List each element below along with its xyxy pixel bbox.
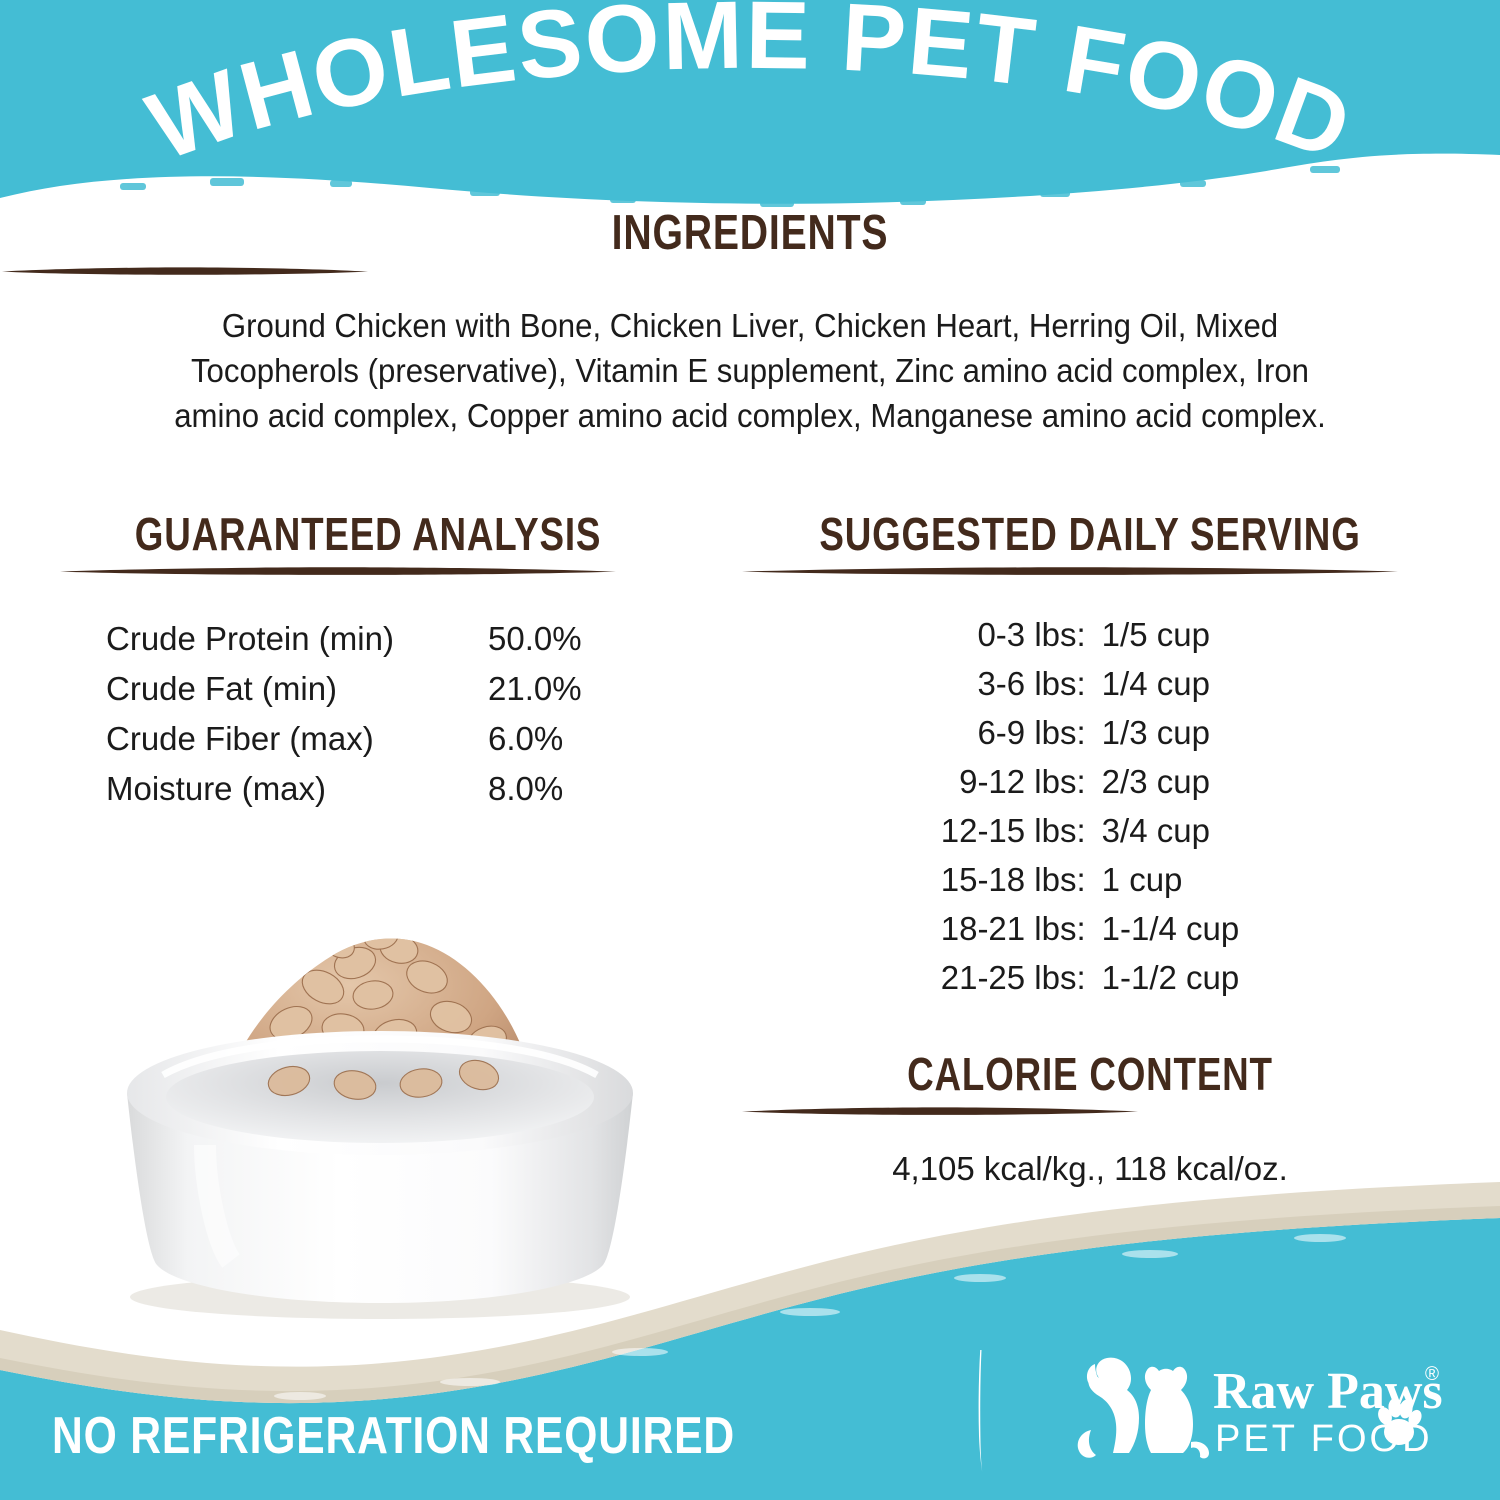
analysis-value: 50.0% <box>488 614 678 664</box>
serving-weight: 15-18 lbs: <box>941 855 1102 904</box>
analysis-label: Crude Fiber (max) <box>58 714 488 764</box>
table-row: 0-3 lbs: 1/5 cup <box>941 610 1240 659</box>
calorie-content-section: CALORIE CONTENT 4,105 kcal/kg., 118 kcal… <box>740 1048 1440 1188</box>
analysis-value: 8.0% <box>488 764 678 814</box>
table-row: 15-18 lbs: 1 cup <box>941 855 1240 904</box>
serving-amount: 1/4 cup <box>1102 659 1240 708</box>
table-row: 18-21 lbs: 1-1/4 cup <box>941 904 1240 953</box>
table-row: Crude Protein (min) 50.0% <box>58 614 678 664</box>
brand-logo: Raw Paws ® PET FOOD <box>1055 1352 1455 1477</box>
table-row: Moisture (max) 8.0% <box>58 764 678 814</box>
header-banner <box>0 0 1500 230</box>
serving-amount: 1/5 cup <box>1102 610 1240 659</box>
guaranteed-analysis-table: Crude Protein (min) 50.0% Crude Fat (min… <box>58 614 678 814</box>
suggested-daily-serving-section: SUGGESTED DAILY SERVING 0-3 lbs: 1/5 cup… <box>740 508 1440 1002</box>
guaranteed-analysis-heading: GUARANTEED ANALYSIS <box>120 508 616 560</box>
analysis-label: Crude Protein (min) <box>58 614 488 664</box>
guaranteed-analysis-section: GUARANTEED ANALYSIS Crude Protein (min) … <box>58 508 678 814</box>
ingredients-section: INGREDIENTS Ground Chicken with Bone, Ch… <box>0 206 1500 439</box>
analysis-value: 21.0% <box>488 664 678 714</box>
table-row: 21-25 lbs: 1-1/2 cup <box>941 953 1240 1002</box>
table-row: 3-6 lbs: 1/4 cup <box>941 659 1240 708</box>
calorie-content-heading: CALORIE CONTENT <box>810 1048 1370 1100</box>
serving-amount: 1-1/2 cup <box>1102 953 1240 1002</box>
analysis-value: 6.0% <box>488 714 678 764</box>
serving-weight: 6-9 lbs: <box>941 708 1102 757</box>
table-row: Crude Fiber (max) 6.0% <box>58 714 678 764</box>
pet-food-label: WHOLESOME PET FOOD INGREDIENTS Ground Ch… <box>0 0 1500 1500</box>
analysis-label: Crude Fat (min) <box>58 664 488 714</box>
ingredients-underline <box>0 266 1500 276</box>
serving-weight: 18-21 lbs: <box>941 904 1102 953</box>
suggested-daily-serving-underline <box>740 566 1440 576</box>
calorie-content-underline <box>740 1106 1440 1116</box>
serving-weight: 3-6 lbs: <box>941 659 1102 708</box>
no-refrigeration-tagline: NO REFRIGERATION REQUIRED <box>52 1406 735 1466</box>
serving-weight: 21-25 lbs: <box>941 953 1102 1002</box>
registered-mark-icon: ® <box>1425 1364 1439 1385</box>
guaranteed-analysis-underline <box>58 566 678 576</box>
serving-table: 0-3 lbs: 1/5 cup 3-6 lbs: 1/4 cup 6-9 lb… <box>941 610 1240 1002</box>
table-row: 9-12 lbs: 2/3 cup <box>941 757 1240 806</box>
ingredients-heading: INGREDIENTS <box>150 206 1350 260</box>
serving-amount: 1-1/4 cup <box>1102 904 1240 953</box>
serving-amount: 2/3 cup <box>1102 757 1240 806</box>
analysis-label: Moisture (max) <box>58 764 488 814</box>
suggested-daily-serving-heading: SUGGESTED DAILY SERVING <box>810 508 1370 560</box>
footer-divider <box>975 1348 989 1479</box>
serving-amount: 1 cup <box>1102 855 1240 904</box>
serving-amount: 3/4 cup <box>1102 806 1240 855</box>
serving-weight: 0-3 lbs: <box>941 610 1102 659</box>
table-row: 6-9 lbs: 1/3 cup <box>941 708 1240 757</box>
serving-amount: 1/3 cup <box>1102 708 1240 757</box>
table-row: 12-15 lbs: 3/4 cup <box>941 806 1240 855</box>
table-row: Crude Fat (min) 21.0% <box>58 664 678 714</box>
serving-weight: 12-15 lbs: <box>941 806 1102 855</box>
serving-weight: 9-12 lbs: <box>941 757 1102 806</box>
dog-and-cat-silhouette-icon <box>1078 1358 1209 1459</box>
ingredients-text: Ground Chicken with Bone, Chicken Liver,… <box>159 304 1340 439</box>
